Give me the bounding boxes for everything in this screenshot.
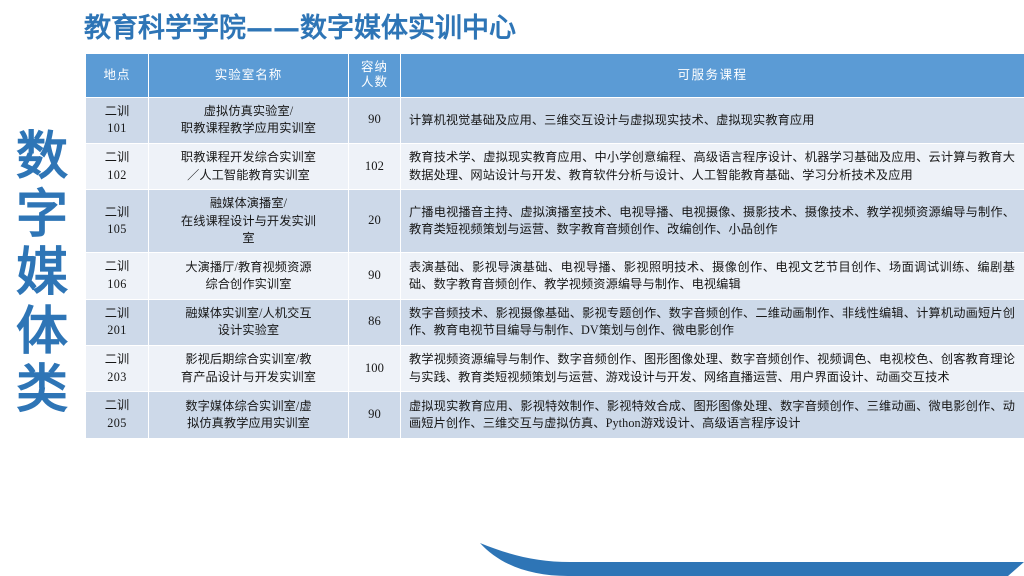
table-row: 二训 106 大演播厅/教育视频资源 综合创作实训室 90 表演基础、影视导演基…: [86, 253, 1024, 299]
cell-lab-name: 大演播厅/教育视频资源 综合创作实训室: [149, 253, 349, 299]
table-row: 二训 203 影视后期综合实训室/教 育产品设计与开发实训室 100 教学视频资…: [86, 345, 1024, 391]
lab-name-line1: 融媒体演播室/: [210, 196, 287, 210]
cell-location: 二训 106: [86, 253, 149, 299]
location-building: 二训: [105, 398, 130, 412]
side-label-char-4: 体: [16, 303, 68, 361]
cell-lab-name: 影视后期综合实训室/教 育产品设计与开发实训室: [149, 345, 349, 391]
location-room: 102: [107, 168, 126, 182]
cell-lab-name: 融媒体演播室/ 在线课程设计与开发实训 室: [149, 190, 349, 253]
cell-courses: 广播电视播音主持、虚拟演播室技术、电视导播、电视摄像、摄影技术、摄像技术、教学视…: [401, 190, 1024, 253]
location-room: 205: [107, 416, 126, 430]
cell-lab-name: 数字媒体综合实训室/虚 拟仿真教学应用实训室: [149, 392, 349, 438]
lab-name-line1: 大演播厅/教育视频资源: [185, 260, 311, 274]
cell-courses: 教育技术学、虚拟现实教育应用、中小学创意编程、高级语言程序设计、机器学习基础及应…: [401, 143, 1024, 189]
cell-location: 二训 102: [86, 143, 149, 189]
location-building: 二训: [105, 205, 130, 219]
lab-name-line2: 在线课程设计与开发实训: [181, 214, 316, 228]
lab-name-line1: 融媒体实训室/人机交互: [185, 306, 311, 320]
lab-name-line2: 拟仿真教学应用实训室: [187, 416, 310, 430]
cell-lab-name: 融媒体实训室/人机交互 设计实验室: [149, 299, 349, 345]
location-building: 二训: [105, 104, 130, 118]
cell-capacity: 20: [349, 190, 401, 253]
table-row: 二训 205 数字媒体综合实训室/虚 拟仿真教学应用实训室 90 虚拟现实教育应…: [86, 392, 1024, 438]
location-room: 106: [107, 277, 126, 291]
cell-capacity: 102: [349, 143, 401, 189]
column-header-capacity: 容纳 人数: [349, 54, 401, 98]
table-row: 二训 102 职教课程开发综合实训室 ／人工智能教育实训室 102 教育技术学、…: [86, 143, 1024, 189]
column-header-lab-name: 实验室名称: [149, 54, 349, 98]
side-label-char-1: 数: [16, 128, 68, 186]
cell-lab-name: 职教课程开发综合实训室 ／人工智能教育实训室: [149, 143, 349, 189]
cell-capacity: 90: [349, 253, 401, 299]
cell-capacity: 90: [349, 97, 401, 143]
column-header-capacity-line1: 容纳: [361, 60, 388, 74]
page-title: 教育科学学院——数字媒体实训中心: [84, 11, 704, 49]
cell-courses: 教学视频资源编导与制作、数字音频创作、图形图像处理、数字音频创作、视频调色、电视…: [401, 345, 1024, 391]
lab-name-line1: 数字媒体综合实训室/虚: [185, 399, 311, 413]
location-room: 105: [107, 222, 126, 236]
cell-courses: 虚拟现实教育应用、影视特效制作、影视特效合成、图形图像处理、数字音频创作、三维动…: [401, 392, 1024, 438]
lab-name-line2: 育产品设计与开发实训室: [181, 370, 316, 384]
lab-name-line2: ／人工智能教育实训室: [187, 168, 310, 182]
cell-location: 二训 105: [86, 190, 149, 253]
location-building: 二训: [105, 352, 130, 366]
location-building: 二训: [105, 259, 130, 273]
table-row: 二训 201 融媒体实训室/人机交互 设计实验室 86 数字音频技术、影视摄像基…: [86, 299, 1024, 345]
table-row: 二训 101 虚拟仿真实验室/ 职教课程教学应用实训室 90 计算机视觉基础及应…: [86, 97, 1024, 143]
column-header-location: 地点: [86, 54, 149, 98]
lab-name-line3: 室: [242, 231, 254, 245]
cell-location: 二训 201: [86, 299, 149, 345]
cell-courses: 数字音频技术、影视摄像基础、影视专题创作、数字音频创作、二维动画制作、非线性编辑…: [401, 299, 1024, 345]
table-header: 地点 实验室名称 容纳 人数 可服务课程: [86, 54, 1024, 98]
cell-courses: 计算机视觉基础及应用、三维交互设计与虚拟现实技术、虚拟现实教育应用: [401, 97, 1024, 143]
table-body: 二训 101 虚拟仿真实验室/ 职教课程教学应用实训室 90 计算机视觉基础及应…: [86, 97, 1024, 438]
cell-capacity: 90: [349, 392, 401, 438]
side-label-char-5: 类: [16, 361, 68, 419]
location-room: 101: [107, 121, 126, 135]
location-building: 二训: [105, 150, 130, 164]
category-side-label: 数 字 媒 体 类: [0, 128, 84, 528]
cell-capacity: 86: [349, 299, 401, 345]
cell-location: 二训 101: [86, 97, 149, 143]
table-row: 二训 105 融媒体演播室/ 在线课程设计与开发实训 室 20 广播电视播音主持…: [86, 190, 1024, 253]
table-header-row: 地点 实验室名称 容纳 人数 可服务课程: [86, 54, 1024, 98]
side-label-char-2: 字: [16, 186, 68, 244]
location-room: 203: [107, 370, 126, 384]
column-header-courses: 可服务课程: [401, 54, 1024, 98]
lab-name-line1: 影视后期综合实训室/教: [185, 352, 311, 366]
cell-lab-name: 虚拟仿真实验室/ 职教课程教学应用实训室: [149, 97, 349, 143]
lab-table-container: 地点 实验室名称 容纳 人数 可服务课程 二训 101 虚拟仿真实验室/ 职教课…: [85, 53, 1024, 548]
lab-table: 地点 实验室名称 容纳 人数 可服务课程 二训 101 虚拟仿真实验室/ 职教课…: [85, 53, 1024, 439]
location-building: 二训: [105, 306, 130, 320]
lab-name-line2: 设计实验室: [218, 323, 279, 337]
location-room: 201: [107, 323, 126, 337]
column-header-capacity-line2: 人数: [361, 75, 388, 89]
lab-name-line1: 虚拟仿真实验室/: [204, 104, 294, 118]
cell-capacity: 100: [349, 345, 401, 391]
cell-location: 二训 203: [86, 345, 149, 391]
lab-name-line2: 综合创作实训室: [205, 277, 291, 291]
lab-name-line2: 职教课程教学应用实训室: [181, 121, 316, 135]
cell-courses: 表演基础、影视导演基础、电视导播、影视照明技术、摄像创作、电视文艺节目创作、场面…: [401, 253, 1024, 299]
lab-name-line1: 职教课程开发综合实训室: [181, 150, 316, 164]
cell-location: 二训 205: [86, 392, 149, 438]
side-label-char-3: 媒: [16, 244, 68, 302]
